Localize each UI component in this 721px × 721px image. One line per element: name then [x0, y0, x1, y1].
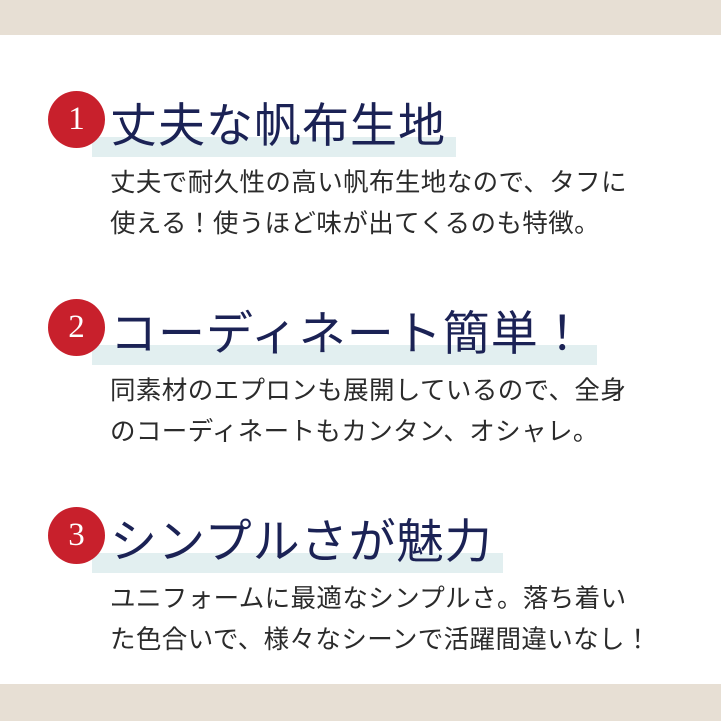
feature-heading-text-2: コーディネート簡単！: [110, 309, 587, 361]
feature-number-badge-2: 2: [48, 299, 105, 356]
feature-body-line: た色合いで、様々なシーンで活躍間違いなし！: [110, 620, 700, 661]
features-container: 1 丈夫な帆布生地 丈夫で耐久性の高い帆布生地なので、タフに 使える！使うほど味…: [0, 35, 721, 684]
feature-item-3: 3 シンプルさが魅力 ユニフォームに最適なシンプルさ。落ち着い た色合いで、様々…: [0, 487, 721, 695]
feature-body-line: 同素材のエプロンも展開しているので、全身: [110, 371, 700, 412]
feature-heading-2: コーディネート簡単！: [110, 312, 591, 365]
feature-body-line: 使える！使うほど味が出てくるのも特徴。: [110, 204, 700, 245]
feature-heading-1: 丈夫な帆布生地: [110, 104, 450, 157]
feature-heading-3: シンプルさが魅力: [110, 520, 497, 573]
feature-heading-wrap-1: 丈夫な帆布生地: [110, 75, 450, 157]
feature-number-badge-1: 1: [48, 91, 105, 148]
feature-heading-wrap-2: コーディネート簡単！: [110, 283, 591, 365]
feature-body-3: ユニフォームに最適なシンプルさ。落ち着い た色合いで、様々なシーンで活躍間違いな…: [110, 579, 700, 662]
feature-number-badge-3: 3: [48, 507, 105, 564]
feature-body-1: 丈夫で耐久性の高い帆布生地なので、タフに 使える！使うほど味が出てくるのも特徴。: [110, 163, 700, 246]
feature-body-line: ユニフォームに最適なシンプルさ。落ち着い: [110, 579, 700, 620]
feature-body-line: のコーディネートもカンタン、オシャレ。: [110, 412, 700, 453]
feature-body-line: 丈夫で耐久性の高い帆布生地なので、タフに: [110, 163, 700, 204]
top-decorative-band: [0, 0, 721, 35]
feature-heading-text-3: シンプルさが魅力: [110, 517, 493, 569]
feature-heading-wrap-3: シンプルさが魅力: [110, 491, 497, 573]
feature-heading-text-1: 丈夫な帆布生地: [110, 101, 446, 153]
bottom-decorative-band: [0, 684, 721, 721]
feature-list-page: 1 丈夫な帆布生地 丈夫で耐久性の高い帆布生地なので、タフに 使える！使うほど味…: [0, 0, 721, 721]
feature-body-2: 同素材のエプロンも展開しているので、全身 のコーディネートもカンタン、オシャレ。: [110, 371, 700, 454]
feature-item-1: 1 丈夫な帆布生地 丈夫で耐久性の高い帆布生地なので、タフに 使える！使うほど味…: [0, 71, 721, 279]
feature-item-2: 2 コーディネート簡単！ 同素材のエプロンも展開しているので、全身 のコーディネ…: [0, 279, 721, 487]
